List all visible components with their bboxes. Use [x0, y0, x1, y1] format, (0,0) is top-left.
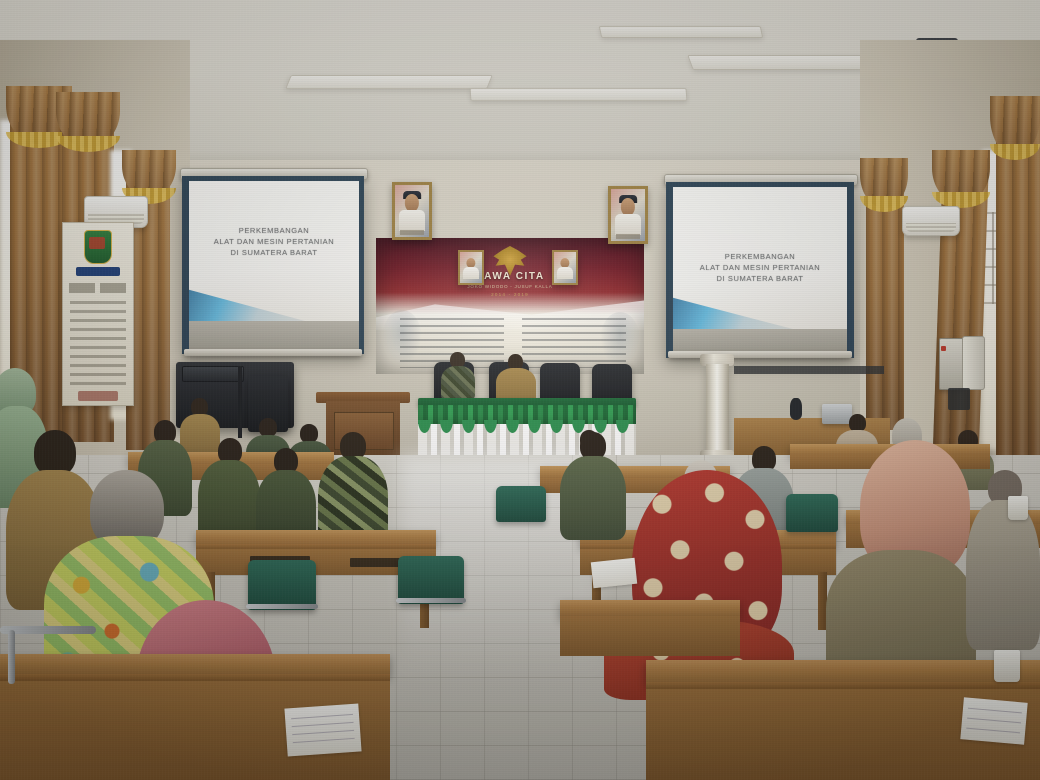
portrait-uniform — [557, 267, 574, 279]
slide-line-1: PERKEMBANGAN — [189, 226, 359, 237]
person-torso — [441, 366, 475, 400]
paper-text-line — [293, 738, 355, 743]
banner-title: NAWA CITA — [376, 271, 644, 282]
chair-frame — [396, 598, 466, 603]
scallop — [484, 420, 497, 433]
water-heater-tube — [962, 336, 985, 390]
paper-text-line — [967, 718, 1021, 724]
decorative-pillar — [706, 364, 729, 456]
portrait-nameplate — [616, 234, 641, 239]
poster-title-text — [69, 283, 127, 293]
paper-text-line — [968, 708, 1022, 714]
stand-pole — [238, 366, 242, 438]
person-torso — [966, 500, 1040, 650]
seminar-room-photo: PERKEMBANGAN ALAT DAN MESIN PERTANIAN DI… — [0, 0, 1040, 780]
poster-year-ribbon — [76, 267, 120, 276]
left-slide-text: PERKEMBANGAN ALAT DAN MESIN PERTANIAN DI… — [189, 226, 359, 259]
provincial-emblem-icon — [84, 230, 112, 264]
ceiling-light-fixture — [599, 26, 764, 38]
audience-chair[interactable] — [496, 486, 546, 522]
slide-line-2: ALAT DAN MESIN PERTANIAN — [189, 237, 359, 248]
right-screen-lower — [673, 329, 847, 353]
paper-text-line — [966, 728, 1020, 734]
person-torso — [496, 368, 536, 402]
paper-text-line — [292, 730, 354, 735]
foreground-desk-left — [0, 654, 390, 676]
head-table-official-1 — [440, 352, 476, 402]
av-amplifier-unit — [182, 366, 244, 382]
right-slide-text: PERKEMBANGAN ALAT DAN MESIN PERTANIAN DI… — [673, 252, 847, 285]
banner-portrait-right — [552, 250, 578, 285]
banner-subtitle: JOKO WIDODO - JUSUF KALLA — [376, 284, 644, 289]
scallop — [528, 420, 541, 433]
executive-chair[interactable] — [540, 363, 580, 403]
slide-decoration-wedge — [673, 289, 793, 329]
left-screen-bottom-bar — [184, 349, 362, 356]
ceiling-light-fixture — [470, 88, 688, 101]
slide-line-3: DI SUMATERA BARAT — [189, 248, 359, 259]
banner-points-right — [522, 318, 626, 368]
scallop — [462, 420, 475, 433]
paper-text-line — [292, 722, 354, 727]
gooseneck-mic — [790, 398, 802, 420]
scallop — [418, 420, 431, 433]
portrait-uniform — [399, 210, 425, 231]
audience-chair[interactable] — [398, 556, 464, 604]
right-screen-bottom-bar — [668, 351, 852, 358]
handout-paper[interactable] — [591, 558, 637, 588]
drinking-cup[interactable] — [994, 650, 1020, 682]
slide-decoration-wedge — [189, 281, 305, 321]
portrait-nameplate — [400, 230, 425, 235]
poster-footer-seal — [78, 391, 118, 401]
portrait-uniform — [615, 214, 641, 235]
poster-body-text — [70, 301, 126, 387]
paper-text-line — [291, 714, 353, 719]
wall-poster-left — [62, 222, 134, 406]
scallop — [506, 420, 519, 433]
air-conditioner-right — [902, 206, 960, 236]
head-table-official-2 — [496, 354, 536, 402]
chair-frame — [8, 630, 15, 684]
handout-paper[interactable] — [284, 703, 361, 756]
left-screen-lower — [189, 321, 359, 351]
slide-line-3: DI SUMATERA BARAT — [673, 274, 847, 285]
attendee-front-peach-hijab — [826, 440, 976, 690]
foreground-desk-right — [646, 660, 1040, 684]
banner-years: 2014 - 2019 — [376, 292, 644, 297]
slide-line-2: ALAT DAN MESIN PERTANIAN — [673, 263, 847, 274]
scallop — [440, 420, 453, 433]
panel-indicator-light — [941, 346, 946, 351]
attendee-front-right-grey — [966, 470, 1040, 650]
handout-paper[interactable] — [960, 697, 1027, 744]
portrait-vice-president — [608, 186, 648, 244]
mid-desk-right-front — [560, 616, 740, 656]
portrait-uniform — [463, 267, 480, 279]
ceiling-light-fixture — [687, 55, 884, 70]
back-counter — [734, 366, 884, 374]
slide-line-1: PERKEMBANGAN — [673, 252, 847, 263]
ceiling-light-fixture — [285, 75, 493, 89]
banner-portrait-left — [458, 250, 484, 285]
drinking-cup[interactable] — [1008, 496, 1028, 520]
portrait-president — [392, 182, 432, 240]
junction-box — [948, 388, 970, 410]
